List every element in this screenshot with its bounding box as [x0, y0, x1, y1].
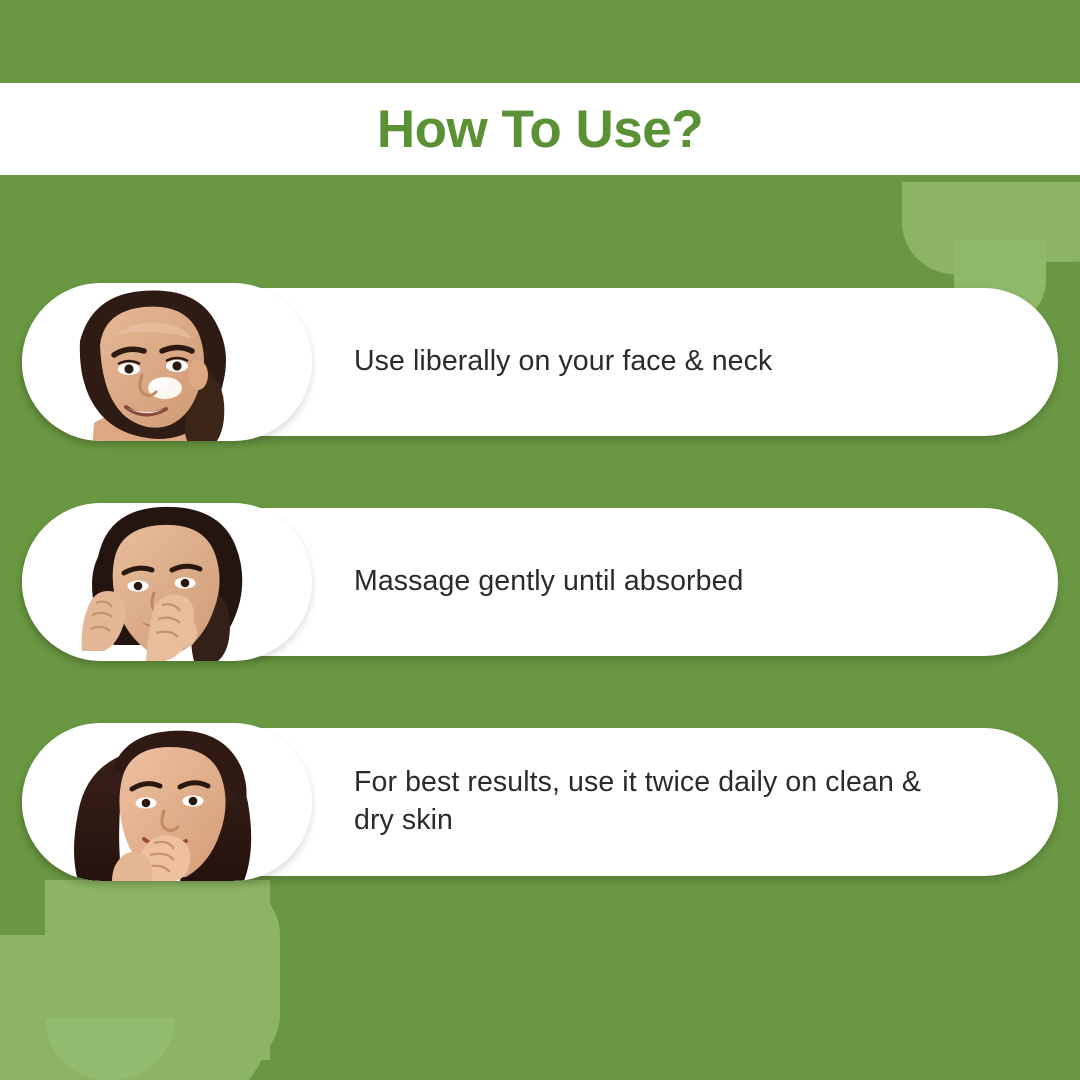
header-band: How To Use?	[0, 83, 1080, 175]
page-title: How To Use?	[377, 99, 703, 160]
how-to-use-infographic: How To Use?	[0, 0, 1080, 1080]
step-card-2[interactable]: Massage gently until absorbed	[22, 508, 1058, 656]
step-3-line-2: dry skin	[354, 802, 1010, 840]
step-2-line-1: Massage gently until absorbed	[354, 563, 1010, 601]
step-2-image	[22, 503, 312, 661]
step-2-text: Massage gently until absorbed	[354, 563, 1010, 601]
step-3-line-1: For best results, use it twice daily on …	[354, 764, 1010, 802]
step-1-image	[22, 283, 312, 441]
steps-list: Use liberally on your face & neck	[0, 175, 1080, 1080]
step-1-line-1: Use liberally on your face & neck	[354, 343, 1010, 381]
step-1-text: Use liberally on your face & neck	[354, 343, 1010, 381]
top-green-band	[0, 0, 1080, 83]
step-card-3[interactable]: For best results, use it twice daily on …	[22, 728, 1058, 876]
step-3-text: For best results, use it twice daily on …	[354, 764, 1010, 840]
step-3-image	[22, 723, 312, 881]
step-card-1[interactable]: Use liberally on your face & neck	[22, 288, 1058, 436]
